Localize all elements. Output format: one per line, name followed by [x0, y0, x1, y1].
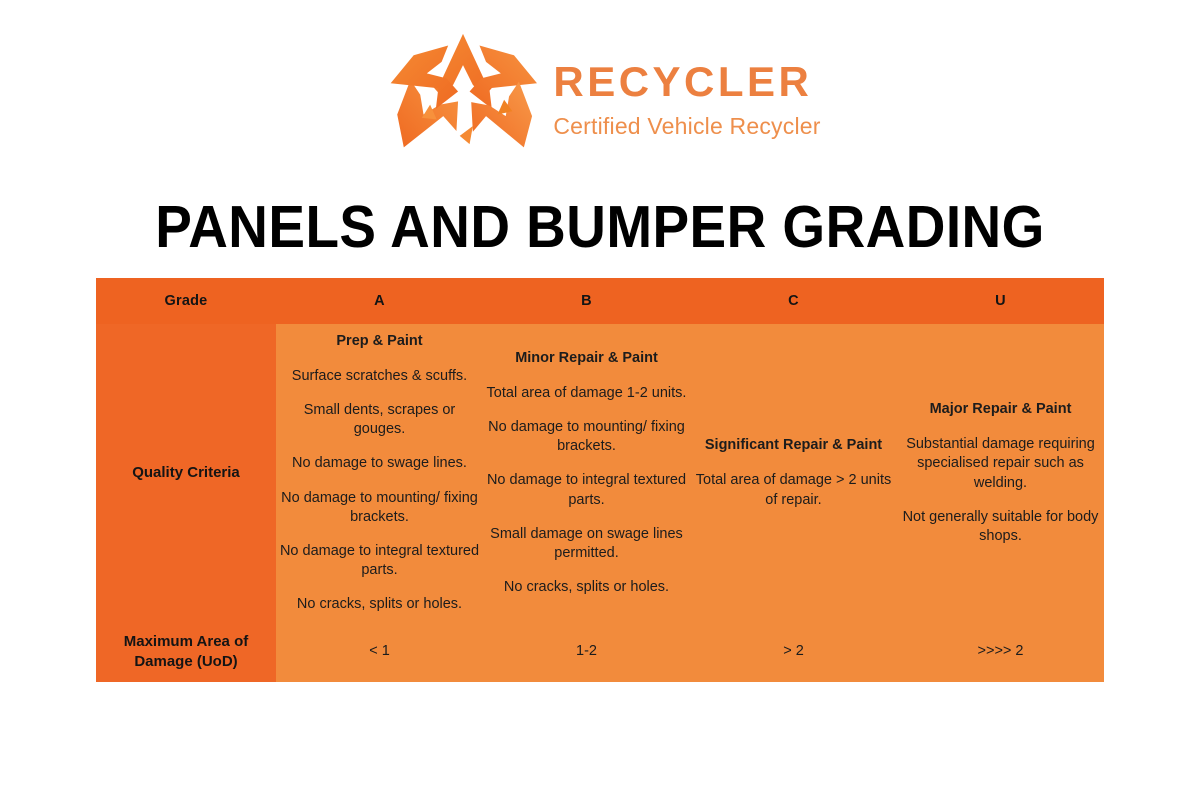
criteria-item: Substantial damage requiring specialised… [897, 435, 1104, 492]
cell-quality-criteria-c: Significant Repair & Paint Total area of… [690, 324, 897, 622]
logo-inner: RECYCLER Certified Vehicle Recycler [379, 29, 820, 177]
recycler-star-arrows-icon [379, 29, 547, 177]
page-title: PANELS AND BUMPER GRADING [42, 193, 1158, 261]
header-cell-a: A [276, 278, 483, 324]
criteria-item: No damage to mounting/ fixing brackets. [276, 489, 483, 527]
brand-logo: RECYCLER Certified Vehicle Recycler [0, 28, 1200, 178]
row-label-max-area-damage: Maximum Area of Damage (UoD) [96, 622, 276, 682]
row-label-quality-criteria: Quality Criteria [96, 324, 276, 622]
criteria-list-a: Prep & Paint Surface scratches & scuffs.… [276, 332, 483, 614]
criteria-item: No damage to mounting/ fixing brackets. [483, 418, 690, 456]
criteria-heading-b: Minor Repair & Paint [483, 349, 690, 368]
criteria-item: Not generally suitable for body shops. [897, 508, 1104, 546]
logo-text-group: RECYCLER Certified Vehicle Recycler [553, 61, 820, 146]
table-row-max-area-damage: Maximum Area of Damage (UoD) < 1 1-2 > 2… [96, 622, 1104, 682]
cell-quality-criteria-a: Prep & Paint Surface scratches & scuffs.… [276, 324, 483, 622]
header-cell-b: B [483, 278, 690, 324]
criteria-item: Surface scratches & scuffs. [276, 367, 483, 386]
cell-uod-c: > 2 [690, 622, 897, 682]
header-cell-c: C [690, 278, 897, 324]
criteria-list-b: Minor Repair & Paint Total area of damag… [483, 349, 690, 597]
criteria-item: Small dents, scrapes or gouges. [276, 401, 483, 439]
criteria-item: No damage to swage lines. [276, 454, 483, 473]
criteria-list-u: Major Repair & Paint Substantial damage … [897, 400, 1104, 546]
cell-quality-criteria-u: Major Repair & Paint Substantial damage … [897, 324, 1104, 622]
table-header-row: Grade A B C U [96, 278, 1104, 324]
header-cell-u: U [897, 278, 1104, 324]
panels-bumper-grading-table: Grade A B C U Quality Criteria Prep & Pa… [96, 278, 1104, 682]
logo-wordmark: RECYCLER [553, 61, 820, 103]
cell-uod-u: >>>> 2 [897, 622, 1104, 682]
cell-uod-b: 1-2 [483, 622, 690, 682]
criteria-heading-c: Significant Repair & Paint [690, 436, 897, 455]
criteria-list-c: Significant Repair & Paint Total area of… [690, 436, 897, 509]
criteria-item: No damage to integral textured parts. [276, 542, 483, 580]
criteria-item: Total area of damage > 2 units of repair… [690, 471, 897, 509]
table-row-quality-criteria: Quality Criteria Prep & Paint Surface sc… [96, 324, 1104, 622]
criteria-item: No cracks, splits or holes. [276, 595, 483, 614]
cell-quality-criteria-b: Minor Repair & Paint Total area of damag… [483, 324, 690, 622]
criteria-item: No damage to integral textured parts. [483, 471, 690, 509]
cell-uod-a: < 1 [276, 622, 483, 682]
criteria-heading-a: Prep & Paint [276, 332, 483, 351]
header-cell-grade: Grade [96, 278, 276, 324]
criteria-item: Small damage on swage lines permitted. [483, 525, 690, 563]
criteria-item: No cracks, splits or holes. [483, 578, 690, 597]
criteria-item: Total area of damage 1-2 units. [483, 384, 690, 403]
logo-tagline: Certified Vehicle Recycler [553, 115, 820, 138]
criteria-heading-u: Major Repair & Paint [897, 400, 1104, 419]
